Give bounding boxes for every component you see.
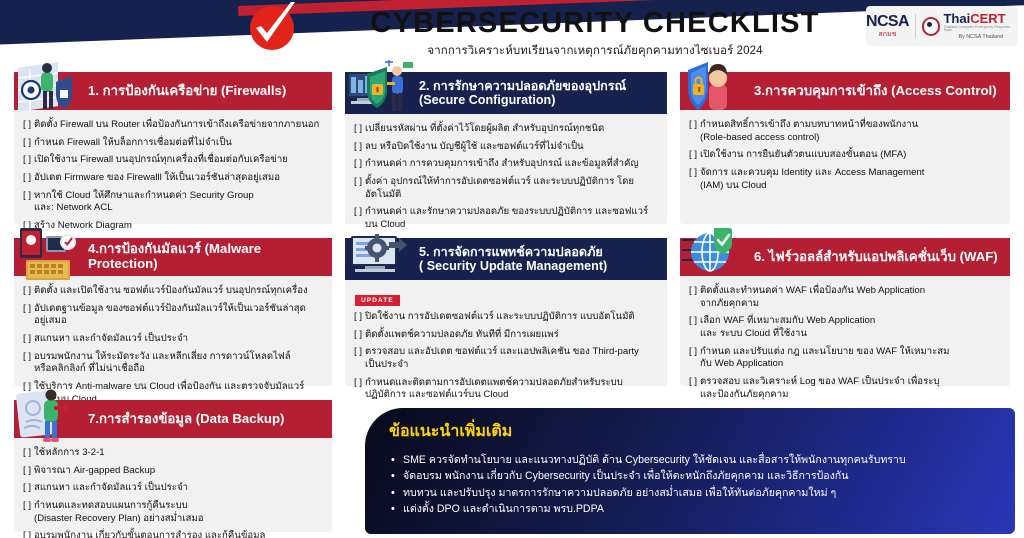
firewall-shield-icon [16, 60, 90, 118]
page-subtitle: จากการวิเคราะห์บทเรียนจากเหตุการณ์ภัยคุก… [330, 42, 860, 60]
checklist-item: [ ]จัดการ และควบคุม Identity และ Access … [689, 167, 1001, 192]
section-card-4: 4.การป้องกันมัลแวร์ (Malware Protection)… [14, 238, 332, 386]
checkbox-icon[interactable]: [ ] [689, 149, 697, 162]
checklist-item: [ ]กำหนด Firewall ให้บล็อกการเชื่อมต่อที… [23, 137, 323, 150]
section-body-7: [ ]ใช้หลักการ 3-2-1 [ ]พิจารณา Air-gappe… [14, 438, 332, 538]
checkbox-icon[interactable]: [ ] [689, 315, 697, 328]
checkbox-icon[interactable]: [ ] [23, 303, 31, 316]
section-title-5: 5. การจัดการแพทช์ความปลอดภัย ( Security … [419, 245, 607, 273]
secure-configuration-icon [347, 60, 421, 118]
checklist-item: [ ]กำหนดและติดตามการอัปเดตแพตช์ความปลอดภ… [354, 377, 658, 402]
section-title-7: 7.การสำรองข้อมูล (Data Backup) [88, 412, 284, 427]
data-backup-icon [16, 388, 90, 446]
thaicert-target-icon [922, 17, 941, 36]
checklist-text: จัดการ และควบคุม Identity และ Access Man… [700, 167, 924, 192]
checklist-text: ติดตั้ง Firewall บน Router เพื่อป้องกันก… [34, 119, 319, 132]
section-body-6: [ ]ติดตั้งและทำหนดค่า WAF เพื่อป้องกัน W… [680, 276, 1010, 412]
section-header-6: 6. ไฟร์วอลล์สำหรับแอปพลิเคชั่นเว็บ (WAF) [680, 238, 1010, 276]
checklist-text: เปลี่ยนรหัสผ่าน ที่ตั้งค่าไว้โดยผู้ผลิต … [365, 123, 604, 136]
web-application-firewall-icon [682, 226, 756, 284]
checklist-text: กำหนดค่า การควบคุมการเข้าถึง สำหรับอุปกร… [365, 158, 639, 171]
checklist-text: พิจารณา Air-gapped Backup [34, 465, 155, 478]
checkbox-icon[interactable]: [ ] [23, 333, 31, 346]
checklist-text: ติดตั้งและทำหนดค่า WAF เพื่อป้องกัน Web … [700, 285, 925, 310]
section-body-5: UPDATE [ ]ปิดใช้งาน การอัปเดตซอฟต์แวร์ แ… [345, 280, 667, 413]
thaicert-accent: CERT [970, 11, 1005, 26]
checklist-item: [ ]ตรวจสอบ และวิเคราะห์ Log ของ WAF เป็น… [689, 376, 1001, 401]
checkbox-icon[interactable]: [ ] [23, 190, 31, 203]
logo-divider [915, 14, 916, 38]
checkbox-icon[interactable]: [ ] [23, 351, 31, 364]
tip-item: ทบทวน และปรับปรุง มาตรการรักษาความปลอดภั… [389, 485, 999, 501]
section-body-3: [ ]กำหนดสิทธิ์การเข้าถึง ตามบทบาทหน้าที่… [680, 110, 1010, 203]
checkbox-icon[interactable]: [ ] [354, 158, 362, 171]
checklist-text: ตรวจสอบ และอัปเดต ซอฟต์แวร์ และแอปพลิเคช… [365, 346, 639, 371]
checkbox-icon[interactable]: [ ] [23, 137, 31, 150]
access-control-lock-icon [682, 60, 756, 118]
checklist-item: [ ]สแกนหา และกำจัดมัลแวร์ เป็นประจำ [23, 333, 323, 346]
section-header-2: 2. การรักษาความปลอดภัยของอุปกรณ์ (Secure… [345, 72, 667, 114]
checklist-text: หากใช้ Cloud ให้ศึกษาและกำหนดค่า Securit… [34, 190, 254, 215]
checklist-item: [ ]สแกนหา และกำจัดมัลแวร์ เป็นประจำ [23, 482, 323, 495]
section-title-3: 3.การควบคุมการเข้าถึง (Access Control) [754, 84, 997, 99]
thaicert-tagline: Thailand Computer Emergency Response Tea… [943, 26, 1018, 33]
checkbox-icon[interactable]: [ ] [689, 119, 697, 132]
checklist-item: [ ]ติดตั้ง Firewall บน Router เพื่อป้องก… [23, 119, 323, 132]
thaicert-logo: ThaiCERT Thailand Computer Emergency Res… [922, 12, 1018, 41]
section-title-6: 6. ไฟร์วอลล์สำหรับแอปพลิเคชั่นเว็บ (WAF) [754, 250, 998, 265]
update-badge: UPDATE [355, 295, 400, 306]
checklist-text: อบรมพนักงาน เกี่ยวกับขั้นตอนการสำรอง และ… [34, 530, 265, 538]
title-block: CYBERSECURITY CHECKLIST จากการวิเคราะห์บ… [330, 8, 860, 60]
checkbox-icon[interactable]: [ ] [689, 167, 697, 180]
checkbox-icon[interactable]: [ ] [689, 285, 697, 298]
section-card-5: 5. การจัดการแพทช์ความปลอดภัย ( Security … [345, 238, 667, 386]
tip-item: SME ควรจัดทำนโยบาย และแนวทางปฏิบัติ ด้าน… [389, 452, 999, 468]
checklist-text: กำหนด และปรับแต่ง กฎ และนโยบาย ของ WAF ใ… [700, 346, 949, 371]
section-card-6: 6. ไฟร์วอลล์สำหรับแอปพลิเคชั่นเว็บ (WAF)… [680, 238, 1010, 386]
checklist-text: เลือก WAF ที่เหมาะสมกับ Web Application … [700, 315, 875, 340]
section-card-2: 2. การรักษาความปลอดภัยของอุปกรณ์ (Secure… [345, 72, 667, 224]
checkbox-icon[interactable]: [ ] [354, 346, 362, 359]
checkbox-icon[interactable]: [ ] [23, 447, 31, 460]
checklist-text: อัปเดตฐานข้อมูล ของซอฟต์แวร์ป้องกันมัลแว… [34, 303, 306, 328]
checklist-text: ตั้งค่า อุปกรณ์ให้ทำการอัปเดตซอฟต์แวร์ แ… [365, 176, 658, 201]
checklist-text: อบรมพนักงาน ให้ระมัดระวัง และหลีกเลี่ยง … [34, 351, 291, 376]
checklist-item: [ ]หากใช้ Cloud ให้ศึกษาและกำหนดค่า Secu… [23, 190, 323, 215]
checkbox-icon[interactable]: [ ] [23, 465, 31, 478]
checklist-item: [ ]เปิดใช้งาน การยืนยันตัวตนแบบสองขั้นตอ… [689, 149, 1001, 162]
checkbox-icon[interactable]: [ ] [23, 482, 31, 495]
thaicert-by: By NCSA Thailand [943, 35, 1018, 40]
section-card-7: 7.การสำรองข้อมูล (Data Backup) [ ]ใช้หลั… [14, 400, 332, 532]
checkbox-icon[interactable]: [ ] [354, 311, 362, 324]
checklist-text: สแกนหา และกำจัดมัลแวร์ เป็นประจำ [34, 333, 188, 346]
security-update-icon [347, 226, 421, 284]
checkbox-icon[interactable]: [ ] [354, 123, 362, 136]
checklist-item: [ ]เปิดใช้งาน Firewall บนอุปกรณ์ทุกเครื่… [23, 154, 323, 167]
ncsa-logo: NCSA สกมช [866, 14, 909, 38]
checklist-item: [ ]พิจารณา Air-gapped Backup [23, 465, 323, 478]
checklist-text: ใช้หลักการ 3-2-1 [34, 447, 105, 460]
tips-title: ข้อแนะนำเพิ่มเติม [389, 419, 999, 444]
checklist-text: เปิดใช้งาน การยืนยันตัวตนแบบสองขั้นตอน (… [700, 149, 906, 162]
checkbox-icon[interactable]: [ ] [23, 172, 31, 185]
checkbox-icon[interactable]: [ ] [23, 500, 31, 513]
checklist-text: อัปเดต Firmware ของ Firewalll ให้เป็นเวอ… [34, 172, 280, 185]
checklist-text: กำหนด Firewall ให้บล็อกการเชื่อมต่อที่ไม… [34, 137, 232, 150]
section-card-1: 1. การป้องกันเครือข่าย (Firewalls) [ ]ติ… [14, 72, 332, 224]
tips-list: SME ควรจัดทำนโยบาย และแนวทางปฏิบัติ ด้าน… [389, 452, 999, 518]
checkbox-icon[interactable]: [ ] [23, 154, 31, 167]
section-header-4: 4.การป้องกันมัลแวร์ (Malware Protection) [14, 238, 332, 276]
section-card-3: 3.การควบคุมการเข้าถึง (Access Control) [… [680, 72, 1010, 224]
tip-item: จัดอบรม พนักงาน เกี่ยวกับ Cybersecurity … [389, 468, 999, 484]
section-title-1: 1. การป้องกันเครือข่าย (Firewalls) [88, 84, 286, 99]
checkbox-icon[interactable]: [ ] [354, 206, 362, 219]
checklist-text: ตรวจสอบ และวิเคราะห์ Log ของ WAF เป็นประ… [700, 376, 939, 401]
checkmark-badge-icon [246, 2, 298, 54]
checklist-text: สแกนหา และกำจัดมัลแวร์ เป็นประจำ [34, 482, 188, 495]
checklist-item: [ ]ใช้หลักการ 3-2-1 [23, 447, 323, 460]
checklist-item: [ ]ตั้งค่า อุปกรณ์ให้ทำการอัปเดตซอฟต์แวร… [354, 176, 658, 201]
checklist-item: [ ]ติดตั้งและทำหนดค่า WAF เพื่อป้องกัน W… [689, 285, 1001, 310]
additional-recommendations-panel: ข้อแนะนำเพิ่มเติม SME ควรจัดทำนโยบาย และ… [365, 408, 1015, 534]
section-title-2: 2. การรักษาความปลอดภัยของอุปกรณ์ (Secure… [419, 79, 626, 107]
checklist-text: กำหนดสิทธิ์การเข้าถึง ตามบทบาทหน้าที่ของ… [700, 119, 918, 144]
checklist-text: ลบ หรือปิดใช้งาน บัญชีผู้ใช้ และซอฟต์แวร… [365, 141, 584, 154]
checklist-item: [ ]กำหนดค่า การควบคุมการเข้าถึง สำหรับอุ… [354, 158, 658, 171]
checklist-item: [ ]ลบ หรือปิดใช้งาน บัญชีผู้ใช้ และซอฟต์… [354, 141, 658, 154]
section-header-5: 5. การจัดการแพทช์ความปลอดภัย ( Security … [345, 238, 667, 280]
malware-protection-icon [16, 226, 90, 284]
checklist-item: [ ]เปลี่ยนรหัสผ่าน ที่ตั้งค่าไว้โดยผู้ผล… [354, 123, 658, 136]
checklist-item: [ ]กำหนด และปรับแต่ง กฎ และนโยบาย ของ WA… [689, 346, 1001, 371]
checklist-text: เปิดใช้งาน Firewall บนอุปกรณ์ทุกเครื่องท… [34, 154, 288, 167]
section-title-4: 4.การป้องกันมัลแวร์ (Malware Protection) [88, 242, 332, 272]
ncsa-logo-sub: สกมช [879, 31, 897, 38]
checkbox-icon[interactable]: [ ] [354, 329, 362, 342]
checkbox-icon[interactable]: [ ] [23, 119, 31, 132]
section-header-3: 3.การควบคุมการเข้าถึง (Access Control) [680, 72, 1010, 110]
section-header-7: 7.การสำรองข้อมูล (Data Backup) [14, 400, 332, 438]
section-header-1: 1. การป้องกันเครือข่าย (Firewalls) [14, 72, 332, 110]
checkbox-icon[interactable]: [ ] [354, 176, 362, 189]
checklist-item: [ ]ปิดใช้งาน การอัปเดตซอฟต์แวร์ และระบบป… [354, 311, 658, 324]
checklist-text: ปิดใช้งาน การอัปเดตซอฟต์แวร์ และระบบปฏิบ… [365, 311, 635, 324]
checklist-item: [ ]อบรมพนักงาน ให้ระมัดระวัง และหลีกเลี่… [23, 351, 323, 376]
page-title: CYBERSECURITY CHECKLIST [330, 8, 860, 38]
checklist-text: ติดตั้ง และเปิดใช้งาน ซอฟต์แวร์ป้องกันมั… [34, 285, 308, 298]
checklist-item: [ ]กำหนดสิทธิ์การเข้าถึง ตามบทบาทหน้าที่… [689, 119, 1001, 144]
ncsa-thaicert-logo: NCSA สกมช ThaiCERT Thailand Computer Eme… [866, 6, 1018, 46]
checkbox-icon[interactable]: [ ] [354, 377, 362, 390]
checklist-item: [ ]ติดตั้งแพตช์ความปลอดภัย ทันทีที่ มีกา… [354, 329, 658, 342]
checkbox-icon[interactable]: [ ] [689, 346, 697, 359]
checklist-text: ติดตั้งแพตช์ความปลอดภัย ทันทีที่ มีการเผ… [365, 329, 559, 342]
section-body-1: [ ]ติดตั้ง Firewall บน Router เพื่อป้องก… [14, 110, 332, 244]
ncsa-logo-main: NCSA [866, 14, 909, 30]
checklist-item: [ ]ติดตั้ง และเปิดใช้งาน ซอฟต์แวร์ป้องกั… [23, 285, 323, 298]
checkbox-icon[interactable]: [ ] [23, 285, 31, 298]
checklist-item: [ ]อบรมพนักงาน เกี่ยวกับขั้นตอนการสำรอง … [23, 530, 323, 538]
checklist-text: กำหนดและติดตามการอัปเดตแพตช์ความปลอดภัยส… [365, 377, 623, 402]
infographic-page: CYBERSECURITY CHECKLIST จากการวิเคราะห์บ… [0, 0, 1024, 538]
checklist-item: [ ]กำหนดและทดสอบแผนการกู้คืนระบบ (Disast… [23, 500, 323, 525]
checklist-item: [ ]เลือก WAF ที่เหมาะสมกับ Web Applicati… [689, 315, 1001, 340]
checklist-item: [ ]อัปเดต Firmware ของ Firewalll ให้เป็น… [23, 172, 323, 185]
checkbox-icon[interactable]: [ ] [23, 530, 31, 538]
tip-item: แต่งตั้ง DPO และดำเนินการตาม พรบ.PDPA [389, 501, 999, 517]
checklist-item: [ ]ตรวจสอบ และอัปเดต ซอฟต์แวร์ และแอปพลิ… [354, 346, 658, 371]
checkbox-icon[interactable]: [ ] [354, 141, 362, 154]
checklist-item: [ ]อัปเดตฐานข้อมูล ของซอฟต์แวร์ป้องกันมั… [23, 303, 323, 328]
checklist-text: กำหนดและทดสอบแผนการกู้คืนระบบ (Disaster … [34, 500, 204, 525]
checkbox-icon[interactable]: [ ] [689, 376, 697, 389]
thaicert-main: Thai [943, 11, 970, 26]
